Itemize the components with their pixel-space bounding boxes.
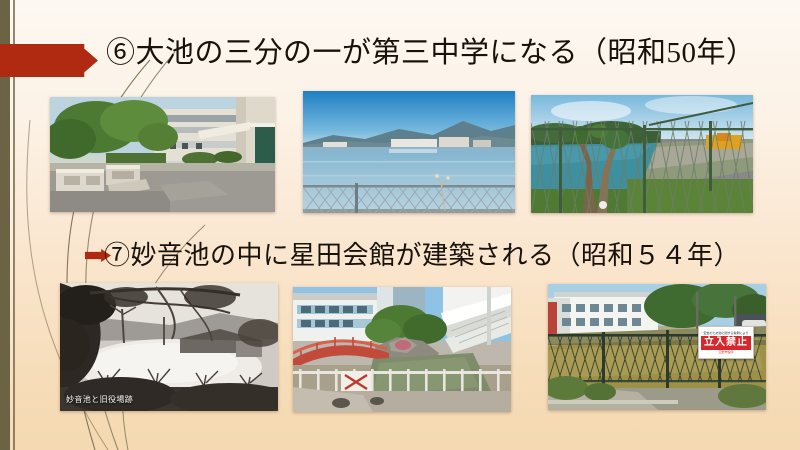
sign-main-text: 立入禁止: [701, 336, 751, 350]
pond-fence-tree-photo: [531, 95, 753, 213]
section-6-banner-arrow: [0, 44, 98, 77]
school-courtyard-photo: [50, 97, 275, 212]
pond-no-entry-photo: 安全のため池に関する条例により 立入禁止 交野市役所: [548, 284, 766, 410]
sign-bottom-text: 交野市役所: [718, 350, 733, 355]
slide-canvas: ⑥大池の三分の一が第三中学になる（昭和50年）: [0, 0, 800, 450]
pond-panorama-photo: [303, 91, 515, 213]
section-6-heading: ⑥大池の三分の一が第三中学になる（昭和50年）: [106, 33, 756, 73]
section-7-heading: ⑦妙音池の中に星田会館が建築される（昭和５４年）: [104, 238, 740, 274]
myoonike-historic-photo: 妙音池と旧役場跡: [60, 283, 278, 411]
photo-caption: 妙音池と旧役場跡: [66, 394, 133, 405]
no-entry-sign: 安全のため池に関する条例により 立入禁止 交野市役所: [698, 326, 754, 359]
hoshida-kaikan-bridge-photo: [293, 287, 511, 412]
